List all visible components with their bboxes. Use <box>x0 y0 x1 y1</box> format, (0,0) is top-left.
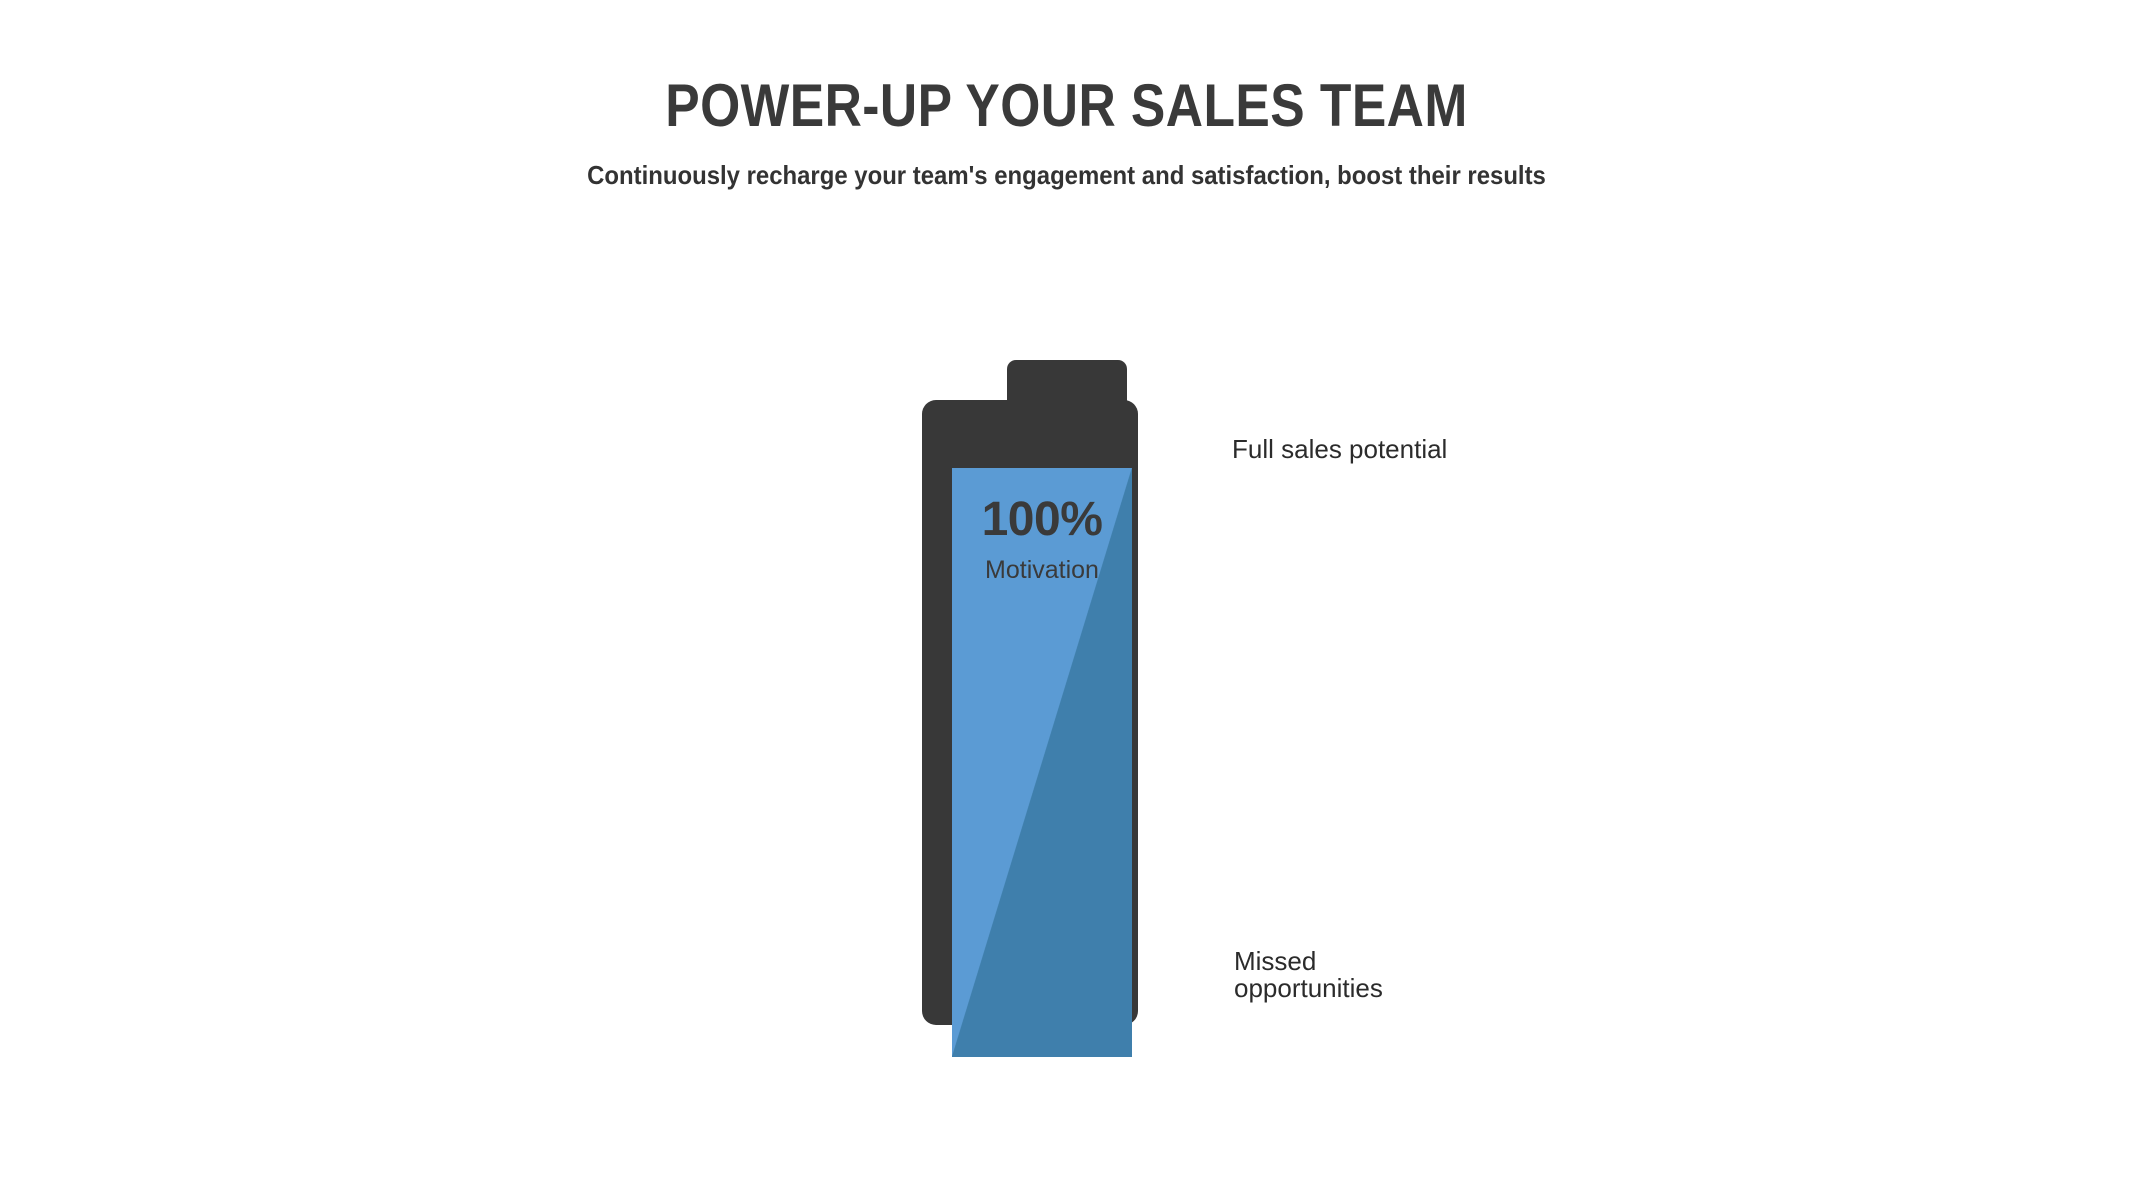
battery-charge-level: 100% Motivation <box>952 468 1132 1057</box>
callout-missed-opportunities: Missed opportunities <box>1234 948 1383 1003</box>
callout-full-sales-potential: Full sales potential <box>1232 436 1447 463</box>
page-title: POWER-UP YOUR SALES TEAM <box>149 0 1983 136</box>
battery-casing: 100% Motivation <box>922 400 1138 1025</box>
page-subtitle: Continuously recharge your team's engage… <box>85 136 2047 188</box>
slide-header: POWER-UP YOUR SALES TEAM Continuously re… <box>0 0 2133 188</box>
battery-charge-shadow-wedge <box>952 468 1132 1057</box>
battery-icon: 100% Motivation <box>910 350 1240 1050</box>
